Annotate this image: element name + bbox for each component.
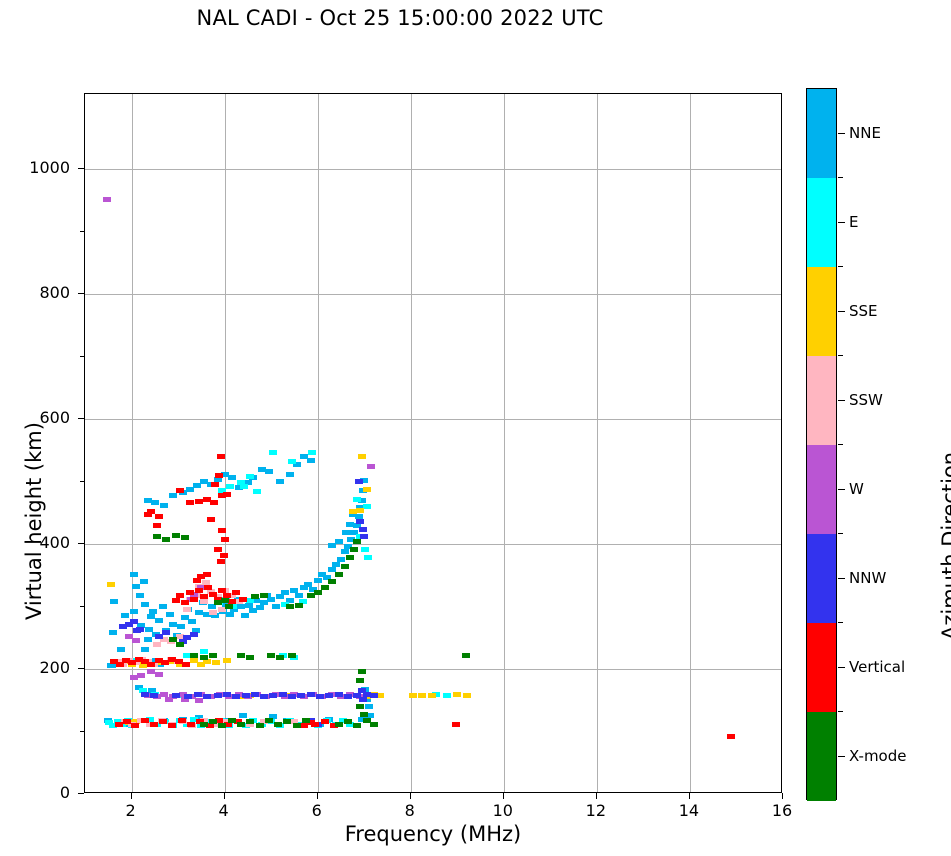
y-tick-label: 200	[0, 658, 70, 677]
data-point	[223, 658, 231, 663]
x-axis-title: Frequency (MHz)	[84, 822, 782, 846]
y-tick	[78, 543, 84, 544]
data-point	[172, 533, 180, 538]
data-point	[260, 593, 268, 598]
y-tick	[78, 168, 84, 169]
x-tick-label: 16	[752, 801, 812, 820]
page-title: NAL CADI - Oct 25 15:00:00 2022 UTC	[0, 6, 800, 30]
gridline-horizontal	[85, 294, 781, 295]
data-point	[370, 693, 378, 698]
data-point	[132, 584, 140, 589]
data-point	[214, 693, 222, 698]
x-tick	[131, 793, 132, 799]
y-minor-tick	[80, 231, 84, 232]
data-point	[184, 694, 192, 699]
data-point	[153, 523, 161, 528]
data-point	[350, 547, 358, 552]
data-point	[188, 619, 196, 624]
data-point	[159, 719, 167, 724]
data-point	[307, 458, 315, 463]
gridline-vertical	[504, 94, 505, 792]
data-point	[182, 662, 190, 667]
data-point	[159, 604, 167, 609]
data-point	[251, 594, 259, 599]
gridline-vertical	[318, 94, 319, 792]
data-point	[335, 692, 343, 697]
data-point	[226, 484, 234, 489]
data-point	[176, 593, 184, 598]
data-point	[251, 692, 259, 697]
data-point	[117, 647, 125, 652]
data-point	[269, 693, 277, 698]
data-point	[337, 557, 345, 562]
data-point	[144, 637, 152, 642]
data-point	[307, 692, 315, 697]
gridline-horizontal	[85, 169, 781, 170]
x-tick	[224, 793, 225, 799]
data-point	[166, 612, 174, 617]
data-point	[265, 469, 273, 474]
data-point	[349, 509, 357, 514]
gridline-horizontal	[85, 669, 781, 670]
y-minor-tick	[80, 481, 84, 482]
data-point	[109, 630, 117, 635]
data-point	[293, 723, 301, 728]
gridline-horizontal	[85, 544, 781, 545]
colorbar-boundary-tick	[838, 622, 843, 623]
data-point	[186, 500, 194, 505]
data-point	[123, 719, 131, 724]
data-point	[187, 722, 195, 727]
data-point	[193, 578, 201, 583]
data-point	[269, 450, 277, 455]
data-point	[190, 597, 198, 602]
data-point	[228, 475, 236, 480]
y-minor-tick	[80, 731, 84, 732]
colorbar-boundary-tick	[838, 266, 843, 267]
data-point	[281, 590, 289, 595]
x-tick	[596, 793, 597, 799]
data-point	[172, 598, 180, 603]
colorbar-label-ssw: SSW	[849, 391, 883, 409]
colorbar[interactable]	[806, 88, 837, 800]
data-point	[288, 694, 296, 699]
colorbar-segment-w[interactable]	[807, 445, 836, 534]
y-tick-label: 0	[0, 783, 70, 802]
data-point	[210, 500, 218, 505]
colorbar-label-sse: SSE	[849, 302, 878, 320]
x-tick-label: 10	[473, 801, 533, 820]
data-point	[232, 590, 240, 595]
data-point	[162, 537, 170, 542]
data-point	[155, 514, 163, 519]
data-point	[169, 493, 177, 498]
data-point	[211, 482, 219, 487]
data-point	[356, 508, 364, 513]
data-point	[223, 492, 231, 497]
data-point	[358, 454, 366, 459]
data-point	[428, 693, 436, 698]
colorbar-label-e: E	[849, 213, 858, 231]
data-point	[141, 692, 149, 697]
data-point	[217, 454, 225, 459]
data-point	[200, 594, 208, 599]
data-point	[110, 599, 118, 604]
data-point	[274, 722, 282, 727]
y-tick	[78, 793, 84, 794]
data-point	[286, 604, 294, 609]
colorbar-tick	[838, 400, 845, 401]
data-point	[181, 600, 189, 605]
colorbar-label-w: W	[849, 480, 864, 498]
data-point	[147, 614, 155, 619]
data-point	[361, 547, 369, 552]
data-point	[239, 597, 247, 602]
data-point	[346, 555, 354, 560]
data-point	[376, 693, 384, 698]
data-point	[359, 527, 367, 532]
data-point	[409, 693, 417, 698]
data-point	[232, 694, 240, 699]
data-point	[190, 632, 198, 637]
data-point	[359, 697, 367, 702]
data-point	[308, 450, 316, 455]
colorbar-tick	[838, 756, 845, 757]
data-point	[256, 605, 264, 610]
data-point	[155, 618, 163, 623]
y-tick-label: 1000	[0, 158, 70, 177]
data-point	[246, 719, 254, 724]
x-tick-label: 6	[287, 801, 347, 820]
data-point	[140, 579, 148, 584]
gridline-vertical	[411, 94, 412, 792]
colorbar-title: Azimuth Direction	[938, 452, 951, 640]
data-point	[217, 559, 225, 564]
data-point	[328, 579, 336, 584]
data-point	[221, 537, 229, 542]
data-point	[253, 489, 261, 494]
data-point	[186, 590, 194, 595]
data-point	[335, 572, 343, 577]
y-minor-tick	[80, 606, 84, 607]
data-point	[130, 572, 138, 577]
data-point	[137, 673, 145, 678]
data-point	[342, 530, 350, 535]
data-point	[178, 718, 186, 723]
colorbar-label-x-mode: X-mode	[849, 747, 906, 765]
data-point	[212, 660, 220, 665]
data-point	[176, 488, 184, 493]
colorbar-boundary-tick	[838, 533, 843, 534]
data-point	[181, 535, 189, 540]
data-point	[209, 719, 217, 724]
data-point	[325, 693, 333, 698]
data-point	[321, 719, 329, 724]
data-point	[443, 693, 451, 698]
data-point	[314, 590, 322, 595]
gridline-vertical	[225, 94, 226, 792]
data-point	[221, 598, 229, 603]
colorbar-tick	[838, 667, 845, 668]
colorbar-boundary-tick	[838, 444, 843, 445]
x-tick-label: 2	[101, 801, 161, 820]
data-point	[288, 653, 296, 658]
data-point	[218, 723, 226, 728]
data-point	[155, 672, 163, 677]
data-point	[316, 694, 324, 699]
data-point	[288, 459, 296, 464]
data-point	[321, 585, 329, 590]
data-point	[214, 547, 222, 552]
colorbar-segment-ssw[interactable]	[807, 356, 836, 445]
data-point	[160, 503, 168, 508]
data-point	[223, 692, 231, 697]
data-point	[237, 722, 245, 727]
colorbar-boundary-tick	[838, 177, 843, 178]
data-point	[195, 499, 203, 504]
data-point	[209, 610, 217, 615]
data-point	[209, 653, 217, 658]
data-point	[153, 642, 161, 647]
x-tick-label: 12	[566, 801, 626, 820]
data-point	[267, 597, 275, 602]
data-point	[200, 599, 208, 604]
y-tick	[78, 668, 84, 669]
x-tick	[503, 793, 504, 799]
data-point	[103, 197, 111, 202]
data-point	[225, 604, 233, 609]
data-point	[267, 653, 275, 658]
data-point	[177, 624, 185, 629]
data-point	[150, 693, 158, 698]
colorbar-segment-sse[interactable]	[807, 267, 836, 356]
data-point	[462, 653, 470, 658]
data-point	[149, 609, 157, 614]
data-point	[358, 688, 366, 693]
data-point	[200, 649, 208, 654]
data-point	[183, 607, 191, 612]
colorbar-tick	[838, 222, 845, 223]
data-point	[107, 582, 115, 587]
data-point	[360, 712, 368, 717]
data-point	[335, 539, 343, 544]
data-point	[207, 517, 215, 522]
data-point	[463, 693, 471, 698]
x-tick	[410, 793, 411, 799]
data-point	[168, 723, 176, 728]
data-point	[297, 693, 305, 698]
data-point	[356, 678, 364, 683]
data-point	[341, 549, 349, 554]
scatter-canvas	[85, 94, 781, 792]
colorbar-segment-nne[interactable]	[807, 89, 836, 178]
y-tick-label: 800	[0, 283, 70, 302]
data-point	[239, 713, 247, 718]
data-point	[242, 693, 250, 698]
x-tick	[689, 793, 690, 799]
data-point	[151, 500, 159, 505]
data-point	[131, 723, 139, 728]
data-point	[200, 655, 208, 660]
data-point	[220, 553, 228, 558]
colorbar-boundary-tick	[838, 711, 843, 712]
data-point	[365, 704, 373, 709]
y-axis-title: Virtual height (km)	[22, 422, 46, 620]
y-tick	[78, 418, 84, 419]
data-point	[228, 718, 236, 723]
data-point	[279, 692, 287, 697]
data-point	[353, 723, 361, 728]
data-point	[276, 655, 284, 660]
data-point	[295, 593, 303, 598]
data-point	[176, 642, 184, 647]
x-tick	[782, 793, 783, 799]
data-point	[260, 694, 268, 699]
data-point	[215, 473, 223, 478]
data-point	[453, 692, 461, 697]
data-point	[241, 613, 249, 618]
data-point	[314, 578, 322, 583]
data-point	[295, 603, 303, 608]
data-point	[203, 572, 211, 577]
data-point	[370, 722, 378, 727]
colorbar-label-vertical: Vertical	[849, 658, 905, 676]
x-tick-label: 4	[194, 801, 254, 820]
gridline-vertical	[132, 94, 133, 792]
data-point	[204, 585, 212, 590]
colorbar-label-nnw: NNW	[849, 569, 886, 587]
colorbar-segment-nnw[interactable]	[807, 534, 836, 623]
data-point	[246, 474, 254, 479]
data-point	[203, 694, 211, 699]
data-point	[353, 539, 361, 544]
data-point	[226, 612, 234, 617]
colorbar-segment-vertical[interactable]	[807, 623, 836, 712]
data-point	[141, 718, 149, 723]
data-point	[237, 653, 245, 658]
data-point	[162, 630, 170, 635]
data-point	[356, 519, 364, 524]
data-point	[115, 722, 123, 727]
data-point	[302, 718, 310, 723]
colorbar-boundary-tick	[838, 355, 843, 356]
data-point	[218, 528, 226, 533]
data-point	[130, 609, 138, 614]
data-point	[141, 602, 149, 607]
data-point	[150, 722, 158, 727]
data-point	[172, 693, 180, 698]
data-point	[418, 693, 426, 698]
data-point	[194, 692, 202, 697]
data-point	[130, 619, 138, 624]
data-point	[452, 722, 460, 727]
x-tick-label: 14	[659, 801, 719, 820]
data-point	[358, 669, 366, 674]
colorbar-tick	[838, 489, 845, 490]
data-point	[283, 719, 291, 724]
x-tick	[317, 793, 318, 799]
data-point	[286, 472, 294, 477]
data-point	[136, 627, 144, 632]
data-point	[136, 593, 144, 598]
data-point	[332, 562, 340, 567]
data-point	[272, 604, 280, 609]
data-point	[363, 487, 371, 492]
data-point	[195, 588, 203, 593]
data-point	[276, 479, 284, 484]
data-point	[341, 564, 349, 569]
colorbar-tick	[838, 578, 845, 579]
gridline-vertical	[690, 94, 691, 792]
data-point	[200, 722, 208, 727]
data-point	[335, 722, 343, 727]
data-point	[346, 522, 354, 527]
data-point	[265, 718, 273, 723]
data-point	[360, 534, 368, 539]
colorbar-tick	[838, 311, 845, 312]
data-point	[132, 638, 140, 643]
data-point	[195, 698, 203, 703]
colorbar-segment-e[interactable]	[807, 178, 836, 267]
data-point	[147, 669, 155, 674]
data-point	[256, 723, 264, 728]
data-point	[190, 653, 198, 658]
data-point	[246, 655, 254, 660]
data-point	[353, 497, 361, 502]
y-tick	[78, 293, 84, 294]
data-point	[356, 704, 364, 709]
colorbar-label-nne: NNE	[849, 124, 881, 142]
data-point	[367, 464, 375, 469]
data-point	[344, 719, 352, 724]
data-point	[364, 555, 372, 560]
plot-area[interactable]	[84, 93, 782, 793]
colorbar-segment-x-mode[interactable]	[807, 712, 836, 801]
data-point	[121, 613, 129, 618]
data-point	[153, 534, 161, 539]
gridline-horizontal	[85, 419, 781, 420]
gridline-vertical	[597, 94, 598, 792]
x-tick-label: 8	[380, 801, 440, 820]
data-point	[727, 734, 735, 739]
data-point	[240, 484, 248, 489]
colorbar-tick	[838, 133, 845, 134]
data-point	[355, 479, 363, 484]
data-point	[344, 694, 352, 699]
y-minor-tick	[80, 356, 84, 357]
data-point	[141, 647, 149, 652]
